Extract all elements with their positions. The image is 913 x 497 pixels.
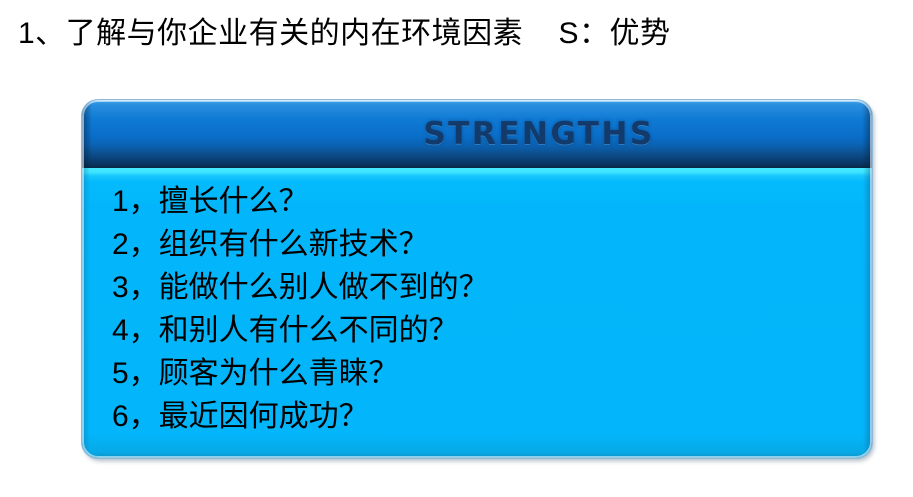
list-item: 3，能做什么别人做不到的？ (112, 266, 872, 309)
list-item: 4，和别人有什么不同的？ (112, 309, 872, 352)
card-header-title: STRENGTHS (423, 116, 654, 152)
list-item: 1，擅长什么？ (112, 180, 872, 223)
list-item: 2，组织有什么新技术？ (112, 223, 872, 266)
strengths-card: STRENGTHS 1，擅长什么？ 2，组织有什么新技术？ 3，能做什么别人做不… (82, 100, 872, 458)
list-item: 5，顾客为什么青睐？ (112, 352, 872, 395)
slide-title: 1、了解与你企业有关的内在环境因素 S：优势 (18, 12, 671, 56)
list-item: 6，最近因何成功？ (112, 395, 872, 438)
strengths-question-list: 1，擅长什么？ 2，组织有什么新技术？ 3，能做什么别人做不到的？ 4，和别人有… (112, 180, 872, 438)
card-body: 1，擅长什么？ 2，组织有什么新技术？ 3，能做什么别人做不到的？ 4，和别人有… (82, 168, 872, 458)
card-header: STRENGTHS (82, 100, 872, 168)
